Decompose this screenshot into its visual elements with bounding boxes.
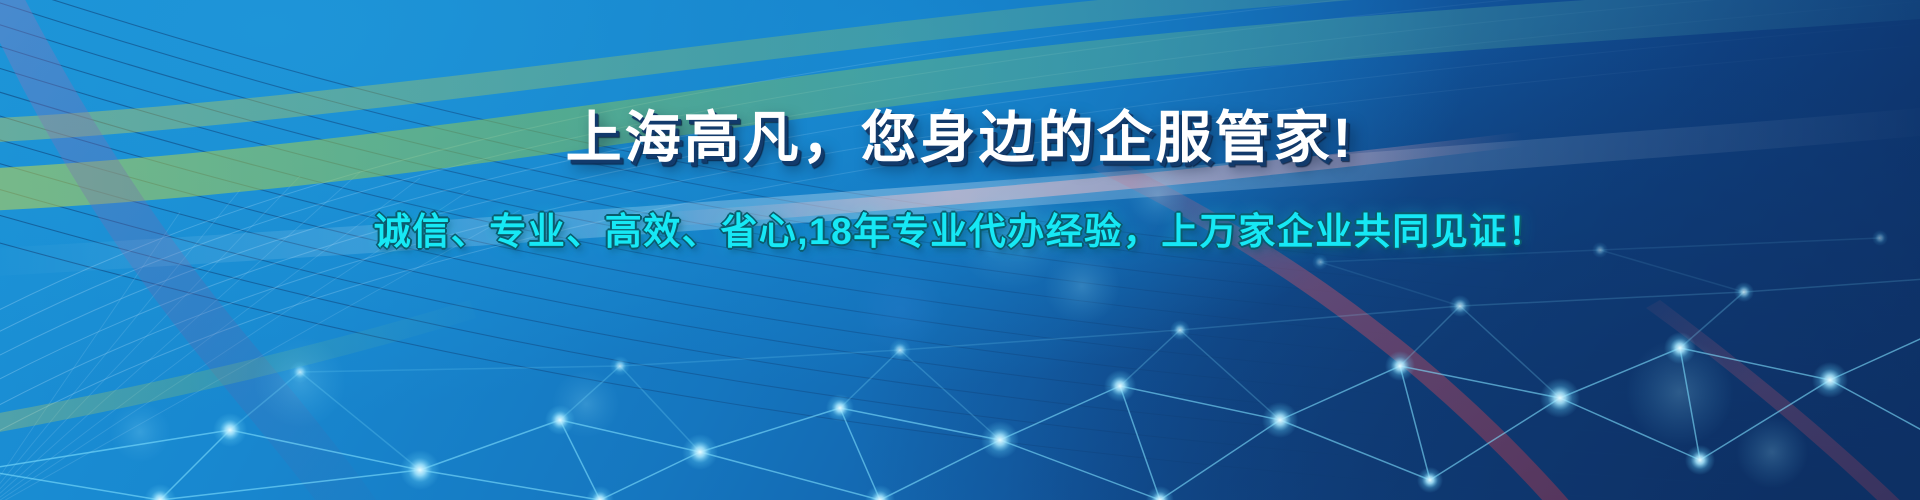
banner-text-block: 上海高凡，您身边的企服管家! 诚信、专业、高效、省心,18年专业代办经验，上万家… — [0, 0, 1920, 500]
hero-banner: 上海高凡，您身边的企服管家! 诚信、专业、高效、省心,18年专业代办经验，上万家… — [0, 0, 1920, 500]
banner-subheadline: 诚信、专业、高效、省心,18年专业代办经验，上万家企业共同见证！ — [374, 212, 1546, 253]
banner-headline: 上海高凡，您身边的企服管家! — [566, 108, 1355, 168]
